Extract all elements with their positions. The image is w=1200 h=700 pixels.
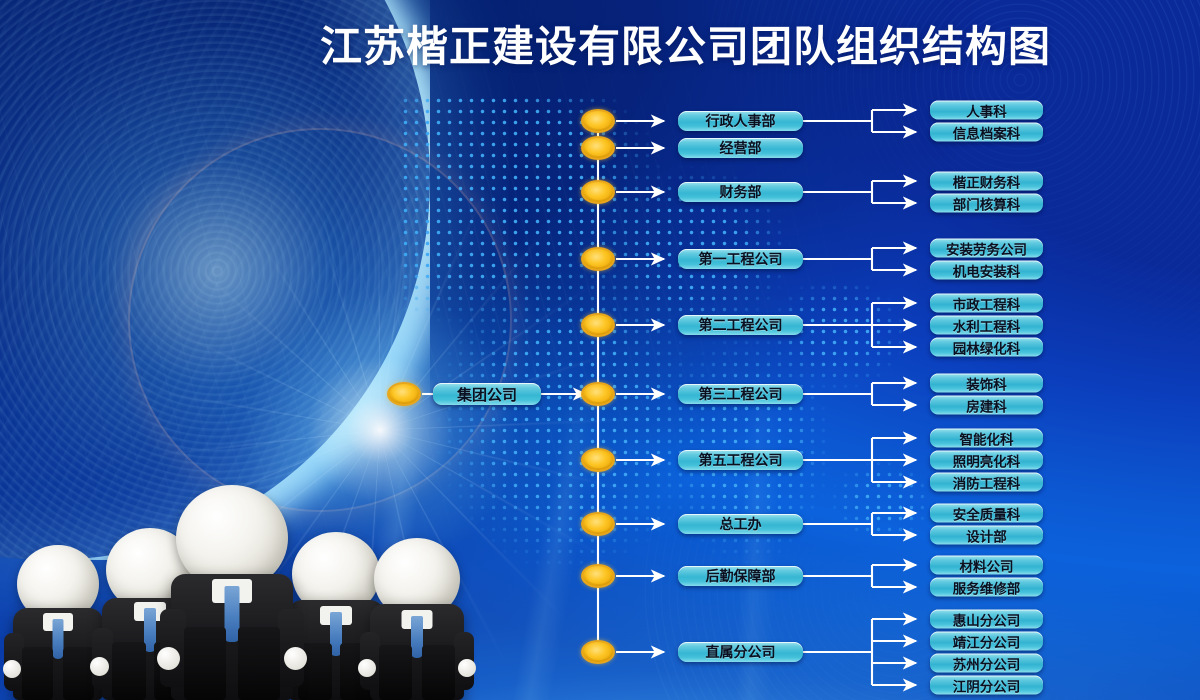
branch-marker-6[interactable] <box>581 382 615 406</box>
leaf-node-5-2[interactable]: 水利工程科 <box>930 316 1043 335</box>
marker-inner <box>587 453 610 468</box>
leaf-node-7-2[interactable]: 照明亮化科 <box>930 451 1043 470</box>
branch-marker-1[interactable] <box>581 109 615 133</box>
org-chart-poster: 江苏楷正建设有限公司团队组织结构图 集团公司行政人事部人事科信息档案科经营部财务… <box>0 0 1200 700</box>
branch-node-10[interactable]: 直属分公司 <box>678 642 803 662</box>
leaf-node-6-1[interactable]: 装饰科 <box>930 374 1043 393</box>
branch-marker-7[interactable] <box>581 448 615 472</box>
figure-hand-left <box>157 647 180 670</box>
branch-marker-9[interactable] <box>581 564 615 588</box>
branch-node-4[interactable]: 第一工程公司 <box>678 249 803 269</box>
branch-node-2[interactable]: 经营部 <box>678 138 803 158</box>
leaf-node-10-3[interactable]: 苏州分公司 <box>930 654 1043 673</box>
branch-node-3[interactable]: 财务部 <box>678 182 803 202</box>
leaf-node-7-1[interactable]: 智能化科 <box>930 429 1043 448</box>
marker-inner <box>587 318 610 333</box>
branch-marker-8[interactable] <box>581 512 615 536</box>
figure-leg-left <box>184 627 226 700</box>
marker-inner <box>587 252 610 267</box>
branch-node-5[interactable]: 第二工程公司 <box>678 315 803 335</box>
leaf-node-4-2[interactable]: 机电安装科 <box>930 261 1043 280</box>
leaf-node-9-1[interactable]: 材料公司 <box>930 556 1043 575</box>
leaf-node-6-2[interactable]: 房建科 <box>930 396 1043 415</box>
branch-marker-4[interactable] <box>581 247 615 271</box>
leaf-node-4-1[interactable]: 安装劳务公司 <box>930 239 1043 258</box>
marker-inner <box>587 114 610 129</box>
figure-hand-right <box>284 647 307 670</box>
branch-node-1[interactable]: 行政人事部 <box>678 111 803 131</box>
branch-node-9[interactable]: 后勤保障部 <box>678 566 803 586</box>
branch-marker-10[interactable] <box>581 640 615 664</box>
branch-marker-5[interactable] <box>581 313 615 337</box>
leaf-node-1-2[interactable]: 信息档案科 <box>930 123 1043 142</box>
marker-inner <box>587 517 610 532</box>
root-node[interactable]: 集团公司 <box>433 383 541 405</box>
marker-inner <box>587 645 610 660</box>
leaf-node-5-1[interactable]: 市政工程科 <box>930 294 1043 313</box>
leaf-node-3-2[interactable]: 部门核算科 <box>930 194 1043 213</box>
marker-inner <box>587 141 610 156</box>
leaf-node-10-1[interactable]: 惠山分公司 <box>930 610 1043 629</box>
marker-inner <box>393 387 416 402</box>
branch-marker-2[interactable] <box>581 136 615 160</box>
leaf-node-10-4[interactable]: 江阴分公司 <box>930 676 1043 695</box>
leaf-node-10-2[interactable]: 靖江分公司 <box>930 632 1043 651</box>
leaf-node-8-2[interactable]: 设计部 <box>930 526 1043 545</box>
leaf-node-5-3[interactable]: 园林绿化科 <box>930 338 1043 357</box>
marker-inner <box>587 387 610 402</box>
leaf-node-8-1[interactable]: 安全质量科 <box>930 504 1043 523</box>
leaf-node-9-2[interactable]: 服务维修部 <box>930 578 1043 597</box>
branch-marker-3[interactable] <box>581 180 615 204</box>
branch-node-6[interactable]: 第三工程公司 <box>678 384 803 404</box>
marker-inner <box>587 569 610 584</box>
root-marker[interactable] <box>387 382 421 406</box>
figure-leg-right <box>238 627 280 700</box>
businessman-figure <box>162 485 302 700</box>
leaf-node-1-1[interactable]: 人事科 <box>930 101 1043 120</box>
branch-node-7[interactable]: 第五工程公司 <box>678 450 803 470</box>
leaf-node-7-3[interactable]: 消防工程科 <box>930 473 1043 492</box>
leaf-node-3-1[interactable]: 楷正财务科 <box>930 172 1043 191</box>
branch-node-8[interactable]: 总工办 <box>678 514 803 534</box>
marker-inner <box>587 185 610 200</box>
